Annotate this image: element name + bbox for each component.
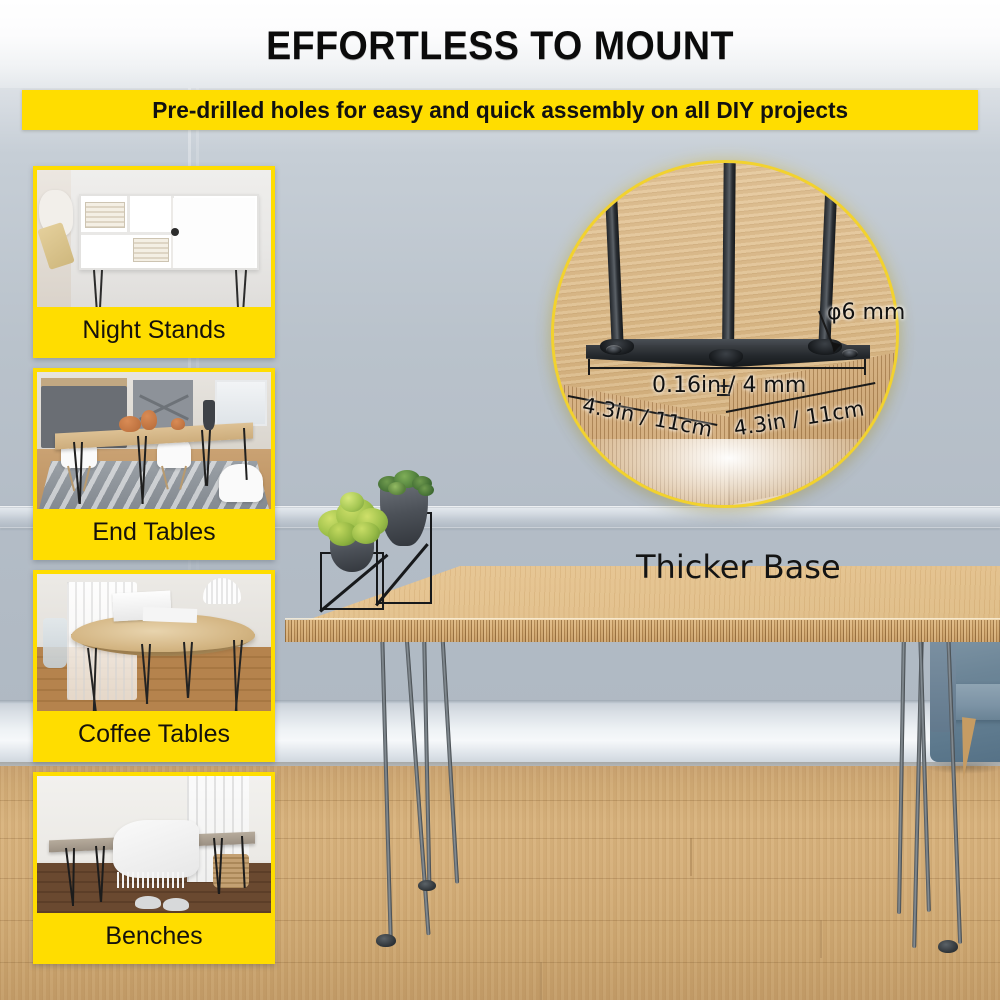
- use-case-label-night-stands: Night Stands: [37, 307, 271, 354]
- dimension-tick-left: [588, 359, 590, 375]
- use-case-photo-coffee-tables: [37, 574, 271, 719]
- hairpin-leg-back-right: [900, 628, 930, 918]
- callout-caption: Thicker Base: [636, 548, 841, 586]
- use-case-photo-benches: [37, 776, 271, 921]
- infographic-canvas: φ6 mm 0.16in / 4 mm 4.3in / 11cm 4.3in /…: [0, 0, 1000, 1000]
- leg-floor-protector: [418, 880, 436, 891]
- use-case-photo-night-stands: [37, 170, 271, 315]
- leg-floor-protector: [376, 934, 396, 947]
- use-case-label-benches: Benches: [37, 913, 271, 960]
- use-case-card-coffee-tables[interactable]: Coffee Tables: [33, 570, 275, 762]
- use-case-label-text: End Tables: [92, 518, 215, 547]
- use-case-label-coffee-tables: Coffee Tables: [37, 711, 271, 758]
- detail-callout-circle: [551, 160, 899, 508]
- dimension-tick-right: [864, 359, 866, 375]
- page-title: EFFORTLESS TO MOUNT: [30, 24, 970, 69]
- subtitle-text: Pre-drilled holes for easy and quick ass…: [152, 97, 848, 124]
- hairpin-leg-front-left: [378, 628, 418, 944]
- leg-floor-protector: [938, 940, 958, 953]
- hole-diameter-label: φ6 mm: [827, 300, 905, 325]
- mounting-hole-right: [842, 349, 858, 358]
- mounting-hole-left: [606, 345, 622, 354]
- use-case-label-text: Benches: [105, 922, 202, 951]
- callout-leg-rod-center: [722, 160, 736, 357]
- use-case-label-end-tables: End Tables: [37, 509, 271, 556]
- callout-rod-weld-center: [709, 349, 743, 365]
- hairpin-leg-back-left: [420, 628, 460, 890]
- plant-decor-group: [318, 470, 448, 610]
- use-case-card-night-stands[interactable]: Night Stands: [33, 166, 275, 358]
- use-case-card-benches[interactable]: Benches: [33, 772, 275, 964]
- plate-thickness-label: 0.16in / 4 mm: [652, 373, 806, 398]
- use-case-label-text: Night Stands: [82, 316, 225, 345]
- subtitle-banner: Pre-drilled holes for easy and quick ass…: [22, 90, 978, 130]
- use-case-photo-end-tables: [37, 372, 271, 517]
- dimension-rule-width: [588, 367, 866, 369]
- table-edge-grain: [285, 620, 1000, 642]
- use-case-card-end-tables[interactable]: End Tables: [33, 368, 275, 560]
- use-case-label-text: Coffee Tables: [78, 720, 230, 749]
- callout-bottom-glow: [564, 439, 894, 508]
